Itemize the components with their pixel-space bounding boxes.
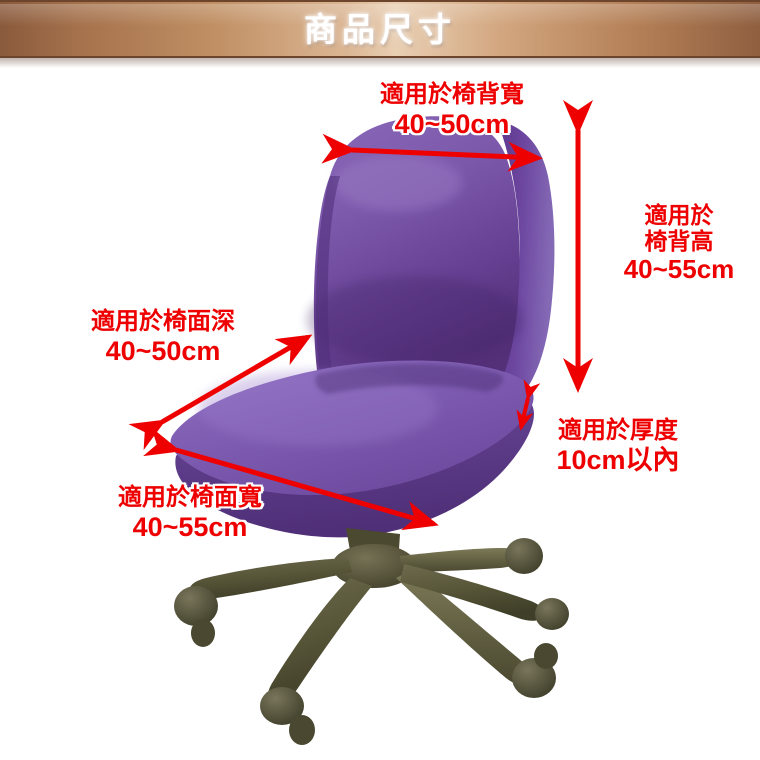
callout-thickness-value: 10cm以內 bbox=[538, 445, 698, 475]
callout-thickness-name: 適用於厚度 bbox=[538, 418, 698, 445]
callout-seat-width-name: 適用於椅面寬 bbox=[90, 485, 290, 512]
chair-caster-back-left bbox=[174, 586, 218, 626]
callout-back-width: 適用於椅背寬 40~50cm bbox=[362, 82, 542, 139]
page-title: 商品尺寸 bbox=[0, 2, 760, 60]
chair-back-highlight bbox=[334, 155, 462, 211]
callout-back-height: 適用於 椅背高 40~55cm bbox=[604, 203, 754, 284]
callout-back-width-value: 40~50cm bbox=[362, 109, 542, 139]
chair-caster-right bbox=[535, 598, 569, 630]
callout-thickness: 適用於厚度 10cm以內 bbox=[538, 418, 698, 475]
callout-back-width-name: 適用於椅背寬 bbox=[362, 82, 542, 109]
callout-seat-depth-value: 40~50cm bbox=[68, 336, 258, 366]
chair-leg-back-left bbox=[190, 558, 352, 599]
callout-seat-depth: 適用於椅面深 40~50cm bbox=[68, 309, 258, 366]
chair-illustration bbox=[0, 58, 760, 760]
chair-leg-front-left bbox=[268, 578, 372, 704]
chair-caster-wheel-back-left bbox=[191, 619, 215, 647]
product-dimension-infographic: 商品尺寸 bbox=[0, 0, 760, 760]
callout-back-height-name-line2: 椅背高 bbox=[604, 229, 754, 255]
callout-seat-width-value: 40~55cm bbox=[90, 512, 290, 542]
chair-caster-wheel-front-left bbox=[289, 715, 315, 745]
header-banner: 商品尺寸 bbox=[0, 0, 760, 58]
callout-seat-depth-name: 適用於椅面深 bbox=[68, 309, 258, 336]
chair-caster-back-right bbox=[505, 538, 543, 574]
callout-back-height-value: 40~55cm bbox=[604, 255, 754, 284]
callout-back-height-name-line1: 適用於 bbox=[604, 203, 754, 229]
chair-graphic bbox=[0, 58, 760, 760]
chair-back-lumbar-shadow bbox=[307, 276, 523, 364]
chair-caster-wheel-front-right bbox=[534, 643, 558, 669]
callout-seat-width: 適用於椅面寬 40~55cm bbox=[90, 485, 290, 542]
